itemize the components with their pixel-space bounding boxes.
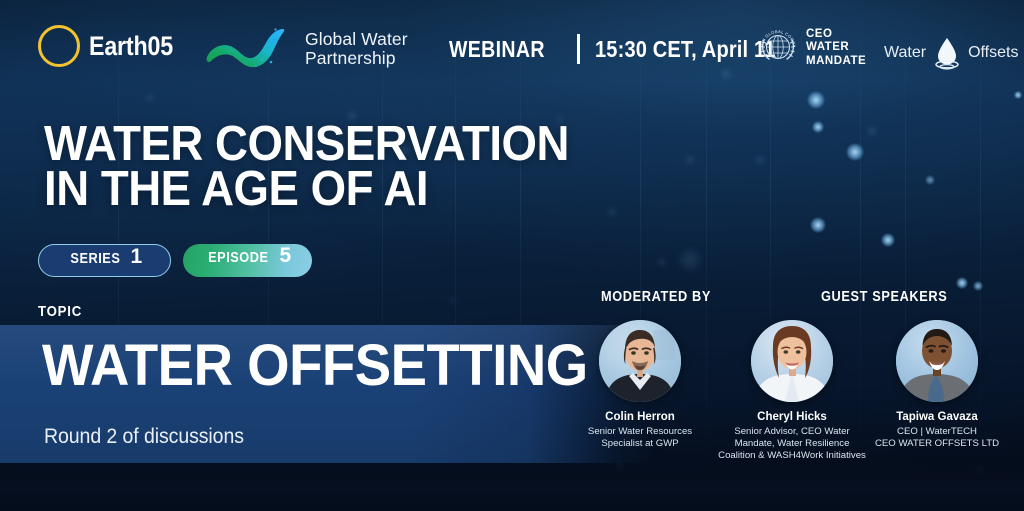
badge-episode-label: EPISODE xyxy=(208,250,268,266)
guest-speakers-heading: GUEST SPEAKERS xyxy=(821,289,947,305)
header-bar: Earth05 xyxy=(0,0,1024,92)
water-droplet-ripple-icon xyxy=(932,33,962,73)
brand-name: Earth05 xyxy=(89,31,173,62)
water-wave-brushstroke-icon xyxy=(205,26,297,72)
partner-name-line1: Global Water xyxy=(305,30,408,49)
brand-logo-earth05[interactable]: Earth05 xyxy=(38,25,187,67)
avatar-colin-herron xyxy=(599,320,681,402)
speaker-role-line1: Senior Water Resources xyxy=(564,426,716,438)
speaker-role-line2: Mandate, Water Resilience xyxy=(716,438,868,450)
topic-label: TOPIC xyxy=(38,303,82,320)
title-line-2: IN THE AGE OF AI xyxy=(44,167,569,212)
page-title: WATER CONSERVATION IN THE AGE OF AI xyxy=(44,122,569,212)
speaker-role-line3: Coalition & WASH4Work Initiatives xyxy=(716,450,868,462)
event-datetime: 15:30 CET, April 11 xyxy=(595,36,776,63)
speaker-card-moderator[interactable]: Colin Herron Senior Water Resources Spec… xyxy=(560,320,720,450)
topic-subtitle: Round 2 of discussions xyxy=(44,425,244,449)
partner-logo-ceo-water-mandate[interactable]: UN GLOBAL COMPACT CEO WATER MANDATE xyxy=(757,27,866,69)
ceo-line1: CEO xyxy=(806,28,866,41)
series-episode-badges: SERIES 1 EPISODE 5 xyxy=(38,244,312,277)
speaker-role: CEO | WaterTECH CEO WATER OFFSETS LTD xyxy=(857,426,1017,450)
bottom-fade xyxy=(0,463,1024,511)
ceo-line3: MANDATE xyxy=(806,55,866,68)
speaker-card-guest-2[interactable]: Tapiwa Gavaza CEO | WaterTECH CEO WATER … xyxy=(857,320,1017,450)
speaker-role-line1: Senior Advisor, CEO Water xyxy=(716,426,868,438)
water-offsets-word2: Offsets xyxy=(968,44,1018,62)
webinar-poster: Earth05 xyxy=(0,0,1024,511)
un-globe-laurel-icon: UN GLOBAL COMPACT xyxy=(757,27,799,69)
badge-series-label: SERIES xyxy=(70,251,120,267)
badge-episode-value: 5 xyxy=(279,244,291,268)
event-type-label: WEBINAR xyxy=(449,36,545,63)
speaker-role-line2: CEO WATER OFFSETS LTD xyxy=(861,438,1013,450)
badge-episode[interactable]: EPISODE 5 xyxy=(183,244,312,277)
speaker-name: Colin Herron xyxy=(560,411,720,425)
topic-title: WATER OFFSETTING xyxy=(42,337,588,395)
avatar-cheryl-hicks xyxy=(751,320,833,402)
speaker-role-line1: CEO | WaterTECH xyxy=(861,426,1013,438)
moderated-by-heading: MODERATED BY xyxy=(601,289,711,305)
speaker-name: Cheryl Hicks xyxy=(712,411,872,425)
speaker-card-guest-1[interactable]: Cheryl Hicks Senior Advisor, CEO Water M… xyxy=(712,320,872,462)
speaker-role-line2: Specialist at GWP xyxy=(564,438,716,450)
divider xyxy=(577,34,580,64)
ceo-water-mandate-text: CEO WATER MANDATE xyxy=(806,28,866,67)
svg-text:UN GLOBAL COMPACT: UN GLOBAL COMPACT xyxy=(757,27,797,48)
water-offsets-word1: Water xyxy=(884,44,926,62)
partner-name: Global Water Partnership xyxy=(305,30,408,67)
speaker-role: Senior Advisor, CEO Water Mandate, Water… xyxy=(712,426,872,462)
avatar-tapiwa-gavaza xyxy=(896,320,978,402)
speaker-name: Tapiwa Gavaza xyxy=(857,411,1017,425)
badge-series-value: 1 xyxy=(131,245,143,269)
partner-logo-global-water-partnership[interactable]: Global Water Partnership xyxy=(205,26,408,72)
speaker-role: Senior Water Resources Specialist at GWP xyxy=(560,426,720,450)
ceo-line2: WATER xyxy=(806,41,866,54)
badge-series[interactable]: SERIES 1 xyxy=(38,244,171,277)
event-info: WEBINAR 15:30 CET, April 11 xyxy=(449,34,802,64)
ring-circle-icon xyxy=(38,25,80,67)
partner-logo-water-offsets[interactable]: Water Offsets xyxy=(884,33,1018,73)
partner-name-line2: Partnership xyxy=(305,49,408,68)
